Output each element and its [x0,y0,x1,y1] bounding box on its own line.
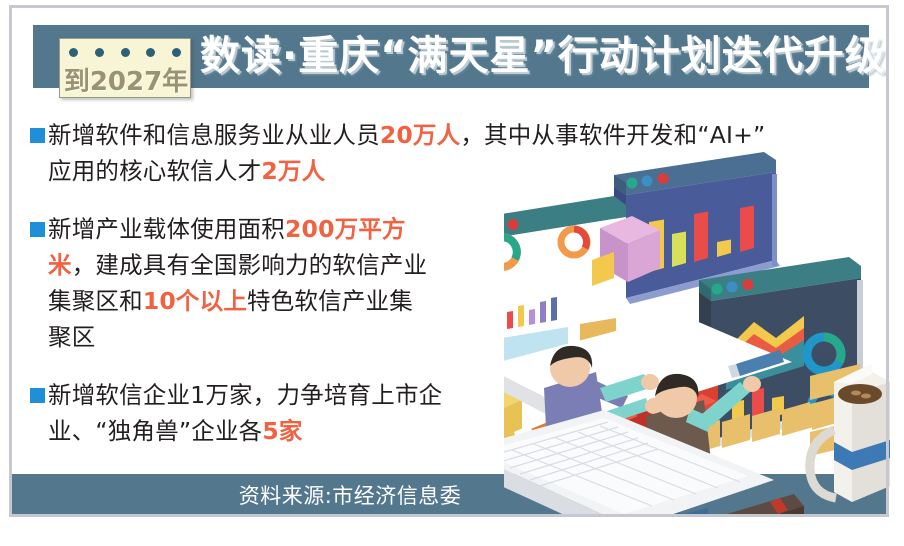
bullet-2-text-d: 特色软信产业集 [247,287,413,315]
bullet-1-highlight-a: 20万人 [380,121,461,149]
badge-dot [69,48,78,57]
bullet-1-text-c: 应用的核心软信人才 [48,157,261,185]
bullet-square-icon [30,222,45,237]
bullet-2-highlight-c: 10个以上 [143,287,247,315]
bullet-2-text-a: 新增产业载体使用面积 [48,215,285,243]
bullet-1-highlight-b: 2万人 [261,157,325,185]
bullet-2-highlight-b: 米 [48,251,72,279]
source-credit: 资料来源:市经济信息委 [0,474,700,519]
badge-dot [121,48,130,57]
bullet-3-text-b: 业、“独角兽”企业各 [48,417,262,445]
badge-dots [69,48,181,57]
bullet-1-text-b: ，其中从事软件开发和“AI+” [460,121,765,149]
bullet-square-icon [30,128,45,143]
bullet-1-text-a: 新增软件和信息服务业从业人员 [48,121,380,149]
bullet-3-highlight-a: 5家 [262,417,302,445]
bullet-2-text-c: 集聚区和 [48,287,143,315]
badge-label: 到2027年 [60,61,192,98]
year-badge: 到2027年 [59,38,191,98]
badge-dot [146,48,155,57]
bullet-3-text-a: 新增软信企业1万家，力争培育上市企 [48,381,442,409]
badge-dot [95,48,104,57]
bullet-2-highlight-a: 200万平方 [285,215,406,243]
badge-dot [172,48,181,57]
page-title: 数读·重庆“满天星”行动计划迭代升级 [200,26,860,88]
bottom-mask [12,517,886,546]
infographic-poster: 数读·重庆“满天星”行动计划迭代升级 到2027年 新增软件和信息服务业从业人员… [0,0,904,546]
bullet-2-text-e: 聚区 [48,323,95,351]
bullet-2-text-b: ，建成具有全国影响力的软信产业 [72,251,428,279]
bullet-square-icon [30,388,45,403]
